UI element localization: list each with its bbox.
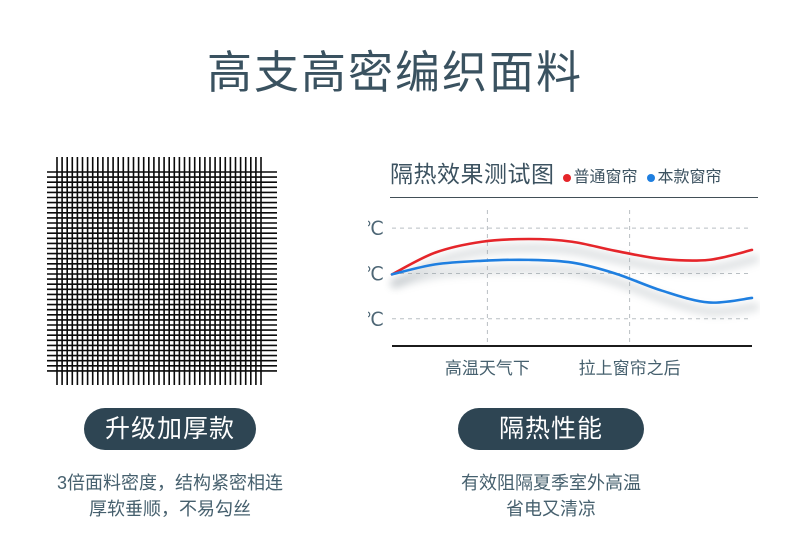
- caption-line-2: 厚软垂顺，不易勾丝: [20, 496, 320, 522]
- caption-line-2: 省电又清凉: [400, 496, 702, 522]
- legend-label: 本款窗帘: [658, 169, 722, 187]
- y-tick-label: 35℃: [368, 219, 384, 240]
- legend-item-1: 本款窗帘: [647, 169, 722, 187]
- caption-insulation: 有效阻隔夏季室外高温 省电又清凉: [400, 470, 702, 522]
- chart-x-axis-labels: 高温天气下拉上窗帘之后: [368, 358, 760, 384]
- page-title: 高支高密编织面料: [0, 47, 790, 99]
- chart-header: 隔热效果测试图 普通窗帘本款窗帘: [390, 160, 760, 196]
- chart-header-divider: [390, 197, 758, 198]
- x-axis-label-0: 高温天气下: [445, 358, 530, 380]
- legend-dot-icon: [647, 174, 655, 182]
- badge-insulation-performance: 隔热性能: [458, 408, 644, 450]
- caption-line-1: 有效阻隔夏季室外高温: [400, 470, 702, 496]
- insulation-test-chart: 隔热效果测试图 普通窗帘本款窗帘 25℃30℃35℃ 高温天气下拉上窗帘之后: [368, 160, 760, 392]
- badge-upgraded-thickness: 升级加厚款: [84, 408, 256, 450]
- series-shadow-0: [395, 248, 755, 283]
- caption-line-1: 3倍面料密度，结构紧密相连: [20, 470, 320, 496]
- chart-legend: 普通窗帘本款窗帘: [563, 169, 722, 187]
- legend-label: 普通窗帘: [574, 169, 638, 187]
- legend-dot-icon: [563, 174, 571, 182]
- x-axis-label-1: 拉上窗帘之后: [579, 358, 681, 380]
- fabric-weave-swatch: [40, 150, 290, 392]
- legend-item-0: 普通窗帘: [563, 169, 638, 187]
- weave-threads-svg: [40, 150, 290, 392]
- y-tick-label: 30℃: [368, 264, 384, 285]
- y-tick-labels: 25℃30℃35℃: [368, 219, 384, 331]
- chart-plot-area: 25℃30℃35℃: [368, 204, 760, 352]
- chart-svg: 25℃30℃35℃: [368, 204, 760, 352]
- caption-fabric-density: 3倍面料密度，结构紧密相连 厚软垂顺，不易勾丝: [20, 470, 320, 522]
- y-tick-label: 25℃: [368, 310, 384, 331]
- series-shadow-1: [395, 269, 755, 312]
- chart-title: 隔热效果测试图: [390, 160, 555, 188]
